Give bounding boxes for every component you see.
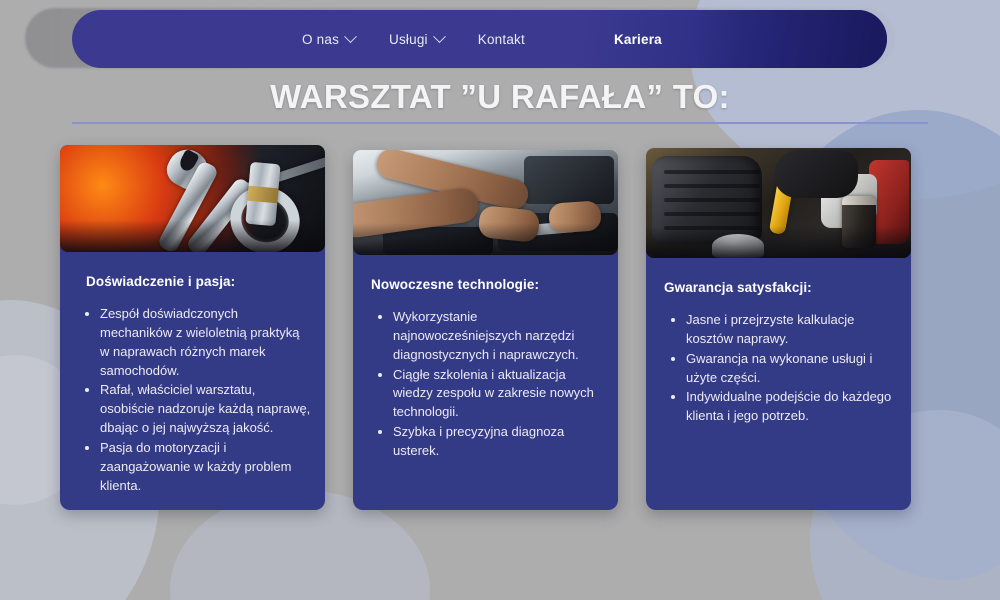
engine-bay-photo-art	[646, 148, 911, 258]
nav-item-list: O nas Usługi Kontakt Kariera	[302, 32, 662, 47]
title-divider	[72, 122, 928, 124]
engine-fin	[664, 184, 760, 188]
card-bullet-item: Indywidualne podejście do każdego klient…	[686, 388, 897, 426]
photo-bottom-vignette	[60, 220, 325, 252]
card-bullet-item: Pasja do motoryzacji i zaangażowanie w k…	[100, 439, 311, 496]
page-heading-wrapper: WARSZTAT ”U RAFAŁA” TO:	[0, 78, 1000, 116]
navbar-gloss-overlay	[697, 10, 887, 68]
engine-block-shape	[524, 156, 614, 204]
page-title: WARSZTAT ”U RAFAŁA” TO:	[0, 78, 1000, 116]
card-bullet-list: Zespół doświadczonych mechaników z wielo…	[82, 305, 311, 495]
nav-item-label: Kontakt	[478, 32, 525, 47]
nav-item-label: O nas	[302, 32, 339, 47]
mechanic-hands-photo-art	[353, 150, 618, 255]
feature-card[interactable]: Doświadczenie i pasja: Zespół doświadczo…	[60, 145, 325, 510]
nav-item-o-nas[interactable]: O nas	[302, 32, 355, 47]
card-bullet-item: Rafał, właściciel warsztatu, osobiście n…	[100, 381, 311, 438]
card-bullet-item: Jasne i przejrzyste kalkulacje kosztów n…	[686, 311, 897, 349]
engine-fin	[664, 212, 760, 216]
gloved-hand-shape	[774, 150, 858, 198]
card-title: Nowoczesne technologie:	[371, 277, 618, 292]
card-bullet-list: Wykorzystanie najnowocześniejszych narzę…	[375, 308, 604, 461]
feature-card-grid: Doświadczenie i pasja: Zespół doświadczo…	[60, 145, 912, 510]
nav-item-label: Usługi	[389, 32, 428, 47]
feature-card[interactable]: Gwarancja satysfakcji: Jasne i przejrzys…	[646, 148, 911, 510]
nav-item-kariera[interactable]: Kariera	[614, 32, 662, 47]
card-bullet-item: Ciągłe szkolenia i aktualizacja wiedzy z…	[393, 366, 604, 423]
nav-item-label: Kariera	[614, 32, 662, 47]
chevron-down-icon[interactable]	[344, 30, 357, 43]
card-image-wrenches	[60, 145, 325, 252]
main-navigation-bar: O nas Usługi Kontakt Kariera	[72, 10, 887, 68]
nav-item-kontakt[interactable]: Kontakt	[478, 32, 525, 47]
card-title: Gwarancja satysfakcji:	[664, 280, 911, 295]
wrenches-photo-art	[60, 145, 325, 252]
card-bullet-item: Szybka i precyzyjna diagnoza usterek.	[393, 423, 604, 461]
photo-bottom-vignette	[646, 226, 911, 258]
chevron-down-icon[interactable]	[433, 30, 446, 43]
photo-bottom-vignette	[353, 223, 618, 255]
socket-brass-band-shape	[247, 186, 278, 204]
card-bullet-list: Jasne i przejrzyste kalkulacje kosztów n…	[668, 311, 897, 426]
engine-fin	[664, 198, 760, 202]
card-image-mechanic-hands	[353, 150, 618, 255]
card-bullet-item: Wykorzystanie najnowocześniejszych narzę…	[393, 308, 604, 365]
nav-item-uslugi[interactable]: Usługi	[389, 32, 444, 47]
feature-card[interactable]: Nowoczesne technologie: Wykorzystanie na…	[353, 150, 618, 510]
engine-fin	[664, 170, 760, 174]
card-title: Doświadczenie i pasja:	[86, 274, 325, 289]
card-image-engine-bay	[646, 148, 911, 258]
card-bullet-item: Gwarancja na wykonane usługi i użyte czę…	[686, 350, 897, 388]
card-bullet-item: Zespół doświadczonych mechaników z wielo…	[100, 305, 311, 380]
